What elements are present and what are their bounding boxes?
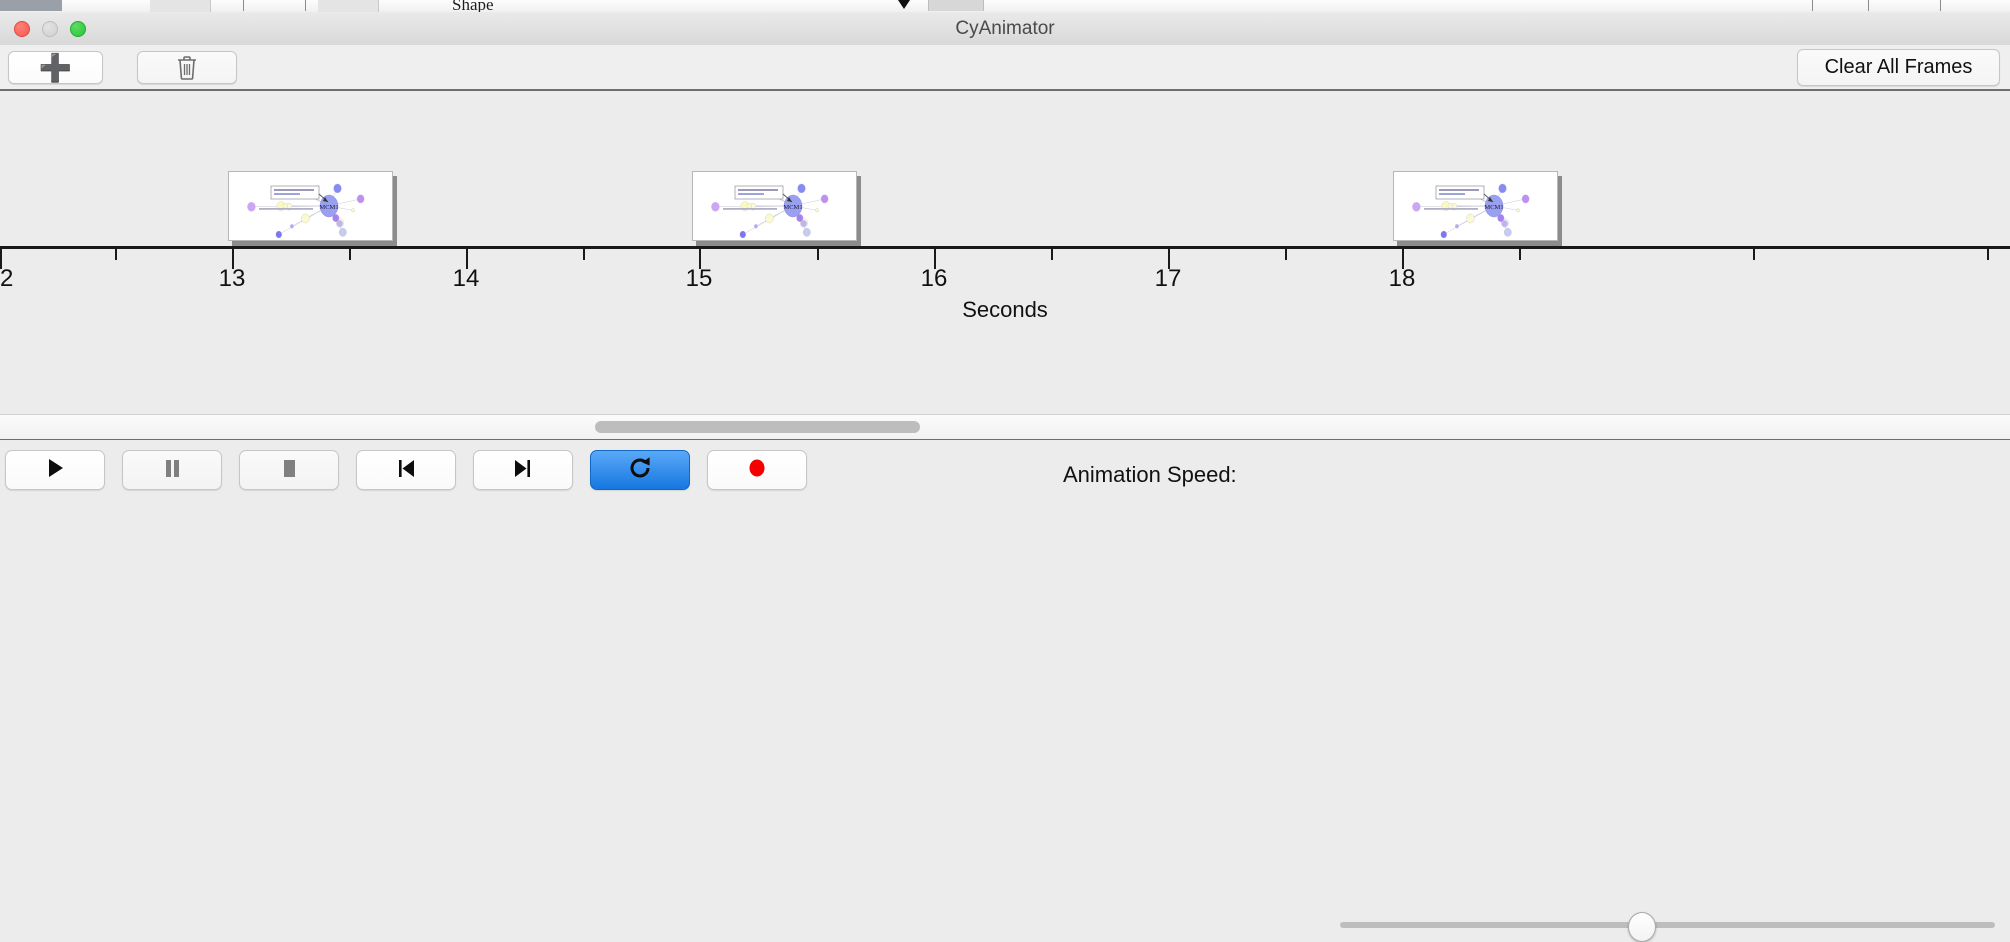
timeline-tick-minor [1753, 249, 1755, 260]
timeline-tick-minor [349, 249, 351, 260]
skip-forward-icon [510, 455, 536, 486]
record-icon [744, 455, 770, 486]
timeline-tick-label: 16 [921, 265, 948, 293]
timeline-tick-minor [1051, 249, 1053, 260]
timeline-tick-minor [817, 249, 819, 260]
skip-end-button[interactable] [473, 450, 573, 490]
svg-text:MCM1: MCM1 [1484, 204, 1503, 211]
delete-frame-button[interactable] [137, 51, 237, 84]
background-slider [928, 0, 984, 11]
timeline-tick-minor [1285, 249, 1287, 260]
skip-start-button[interactable] [356, 450, 456, 490]
animation-speed-label: Animation Speed: [1063, 462, 1237, 488]
timeline-tick-minor [1987, 249, 1989, 260]
clear-all-frames-button[interactable]: Clear All Frames [1797, 49, 2000, 86]
stop-icon [276, 455, 302, 486]
keyframe-image: MCM1 [692, 171, 857, 241]
background-window-titlebar-fragment [0, 0, 62, 11]
background-tick-5 [1940, 0, 1941, 11]
window-title: CyAnimator [0, 12, 2010, 45]
timeline-tick-label: 14 [453, 265, 480, 293]
timeline-tick-label: 12 [0, 265, 13, 293]
stop-button [239, 450, 339, 490]
svg-text:MCM1: MCM1 [783, 204, 802, 211]
trash-icon [176, 55, 198, 80]
background-tick-4 [1868, 0, 1869, 11]
axis-title: Seconds [0, 297, 2010, 320]
toolbar: ➕ Clear All Frames [0, 45, 2010, 91]
timeline-tick-minor [115, 249, 117, 260]
animation-speed-slider-thumb[interactable] [1628, 912, 1656, 942]
timeline-axis [0, 246, 2010, 249]
title-bar: CyAnimator [0, 12, 2010, 46]
timeline-tick-label: 15 [686, 265, 713, 293]
add-frame-button[interactable]: ➕ [8, 51, 103, 84]
background-tick-1 [243, 0, 244, 11]
timeline-scrollbar-thumb[interactable] [595, 421, 920, 433]
keyframe-thumbnail[interactable]: MCM1 [228, 171, 393, 241]
timeline-scrollbar[interactable] [0, 414, 2010, 441]
loop-button[interactable] [590, 450, 690, 490]
play-button[interactable] [5, 450, 105, 490]
background-tab-2 [318, 0, 379, 12]
background-marker-icon [898, 0, 910, 9]
timeline-tick-label: 17 [1155, 265, 1182, 293]
pause-button [122, 450, 222, 490]
pause-icon [159, 455, 185, 486]
timeline-panel[interactable]: MCM1MCM1MCM1 12131415161718 Seconds [0, 91, 2010, 320]
svg-text:MCM1: MCM1 [319, 204, 338, 211]
play-icon [42, 455, 68, 486]
keyframe-thumbnail[interactable]: MCM1 [1393, 171, 1558, 241]
cyanimator-window: Shape CyAnimator ➕ [0, 0, 2010, 510]
background-tick-3 [1812, 0, 1813, 11]
animation-speed-slider[interactable] [1340, 922, 1995, 928]
keyframe-image: MCM1 [1393, 171, 1558, 241]
keyframe-image: MCM1 [228, 171, 393, 241]
timeline-tick-minor [1519, 249, 1521, 260]
playback-control-bar: Animation Speed: [0, 440, 2010, 510]
record-button[interactable] [707, 450, 807, 490]
timeline-tick-minor [583, 249, 585, 260]
background-tick-2 [305, 0, 306, 11]
skip-back-icon [393, 455, 419, 486]
timeline-tick-label: 18 [1389, 265, 1416, 293]
timeline-tick-label: 13 [219, 265, 246, 293]
background-tab-1 [150, 0, 211, 12]
keyframe-thumbnail[interactable]: MCM1 [692, 171, 857, 241]
loop-icon [626, 454, 654, 487]
